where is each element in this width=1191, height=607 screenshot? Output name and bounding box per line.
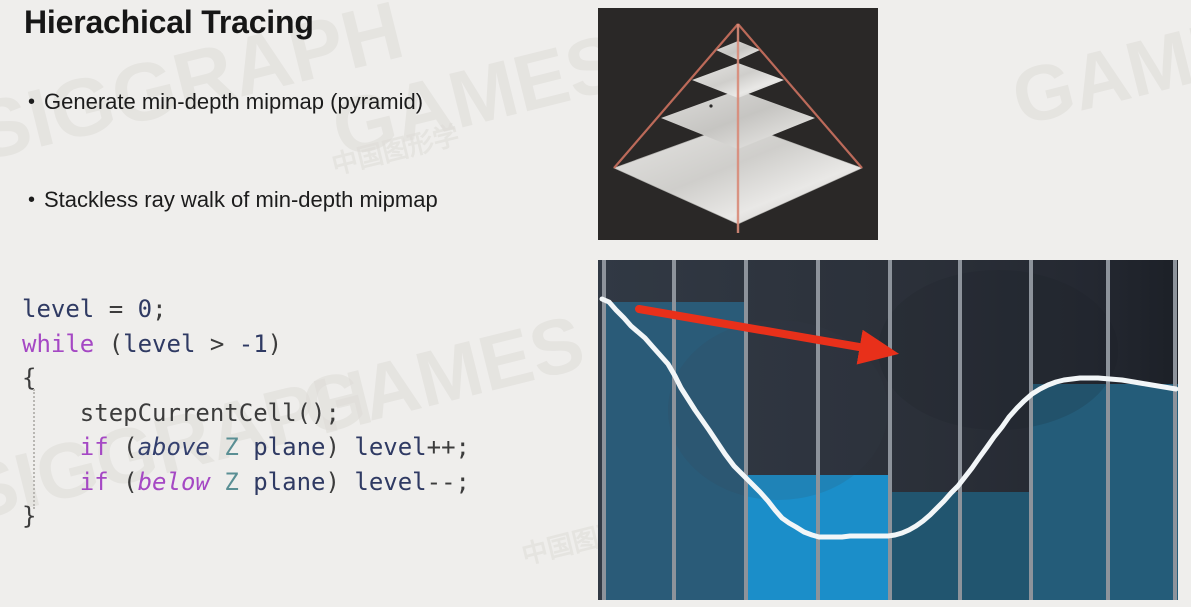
code-token: 0	[138, 295, 152, 323]
pyramid-svg	[598, 8, 878, 240]
code-line: while (level > -1)	[22, 327, 470, 362]
code-token: (	[123, 433, 137, 461]
code-token	[210, 433, 224, 461]
code-token: below	[138, 468, 210, 496]
bullet-item: • Stackless ray walk of min-depth mipmap	[24, 186, 438, 214]
code-line: level = 0;	[22, 292, 470, 327]
code-token: if	[80, 433, 109, 461]
code-token: ++;	[427, 433, 470, 461]
code-token: --;	[427, 468, 470, 496]
bullet-text: Generate min-depth mipmap (pyramid)	[44, 88, 423, 116]
code-token: while	[22, 330, 94, 358]
bullet-text: Stackless ray walk of min-depth mipmap	[44, 186, 438, 214]
code-token	[195, 330, 209, 358]
code-token: )	[325, 433, 339, 461]
code-token: {	[22, 364, 36, 392]
slide-canvas: SIGGRAPH GAMES GAMES SIGGRAPH GAMES 中国图形…	[0, 0, 1191, 607]
code-token: )	[325, 468, 339, 496]
code-line: if (above Z plane) level++;	[22, 430, 470, 465]
cell-fill-5	[960, 492, 1031, 600]
ray-walk-svg	[598, 260, 1178, 600]
code-token: ();	[297, 399, 340, 427]
bullet-marker-icon: •	[24, 186, 44, 214]
page-title: Hierachical Tracing	[24, 4, 314, 41]
code-token: ;	[152, 295, 166, 323]
code-token	[239, 433, 253, 461]
code-token	[94, 295, 108, 323]
code-line: }	[22, 499, 470, 534]
code-token: stepCurrentCell	[80, 399, 297, 427]
code-token: level	[123, 330, 195, 358]
code-token: level	[354, 468, 426, 496]
code-line: stepCurrentCell();	[22, 396, 470, 431]
code-token: =	[109, 295, 123, 323]
bullet-item: • Generate min-depth mipmap (pyramid)	[24, 88, 423, 116]
code-token: level	[22, 295, 94, 323]
bullet-marker-icon: •	[24, 88, 44, 116]
code-token: plane	[253, 433, 325, 461]
code-token: >	[210, 330, 224, 358]
code-token	[22, 433, 80, 461]
code-indent-guide	[33, 389, 35, 509]
code-line: if (below Z plane) level--;	[22, 465, 470, 500]
code-token	[94, 330, 108, 358]
cell-fill-7	[1108, 384, 1178, 600]
ray-walk-figure	[598, 260, 1178, 600]
code-token	[109, 468, 123, 496]
code-token: (	[109, 330, 123, 358]
watermark-text: GAMES	[1003, 0, 1191, 144]
mipmap-pyramid-figure	[598, 8, 878, 240]
code-token	[123, 295, 137, 323]
code-token: )	[268, 330, 282, 358]
code-token	[22, 399, 80, 427]
bg-noise-blob	[878, 270, 1118, 430]
code-token	[22, 468, 80, 496]
code-token	[340, 468, 354, 496]
watermark-text: 中国图形学	[327, 115, 462, 182]
code-token: if	[80, 468, 109, 496]
code-token: (	[123, 468, 137, 496]
code-token: Z	[224, 433, 238, 461]
code-token: level	[354, 433, 426, 461]
cell-fill-0	[603, 302, 674, 600]
cell-fill-4	[890, 492, 960, 600]
code-token	[239, 468, 253, 496]
code-token: plane	[253, 468, 325, 496]
code-token: Z	[224, 468, 238, 496]
code-token	[224, 330, 238, 358]
code-line: {	[22, 361, 470, 396]
code-block: level = 0;while (level > -1){ stepCurren…	[22, 292, 470, 534]
code-token: -1	[239, 330, 268, 358]
pyramid-detail-speck	[709, 104, 712, 107]
code-token: above	[138, 433, 210, 461]
code-token	[210, 468, 224, 496]
code-token	[109, 433, 123, 461]
code-token	[340, 433, 354, 461]
